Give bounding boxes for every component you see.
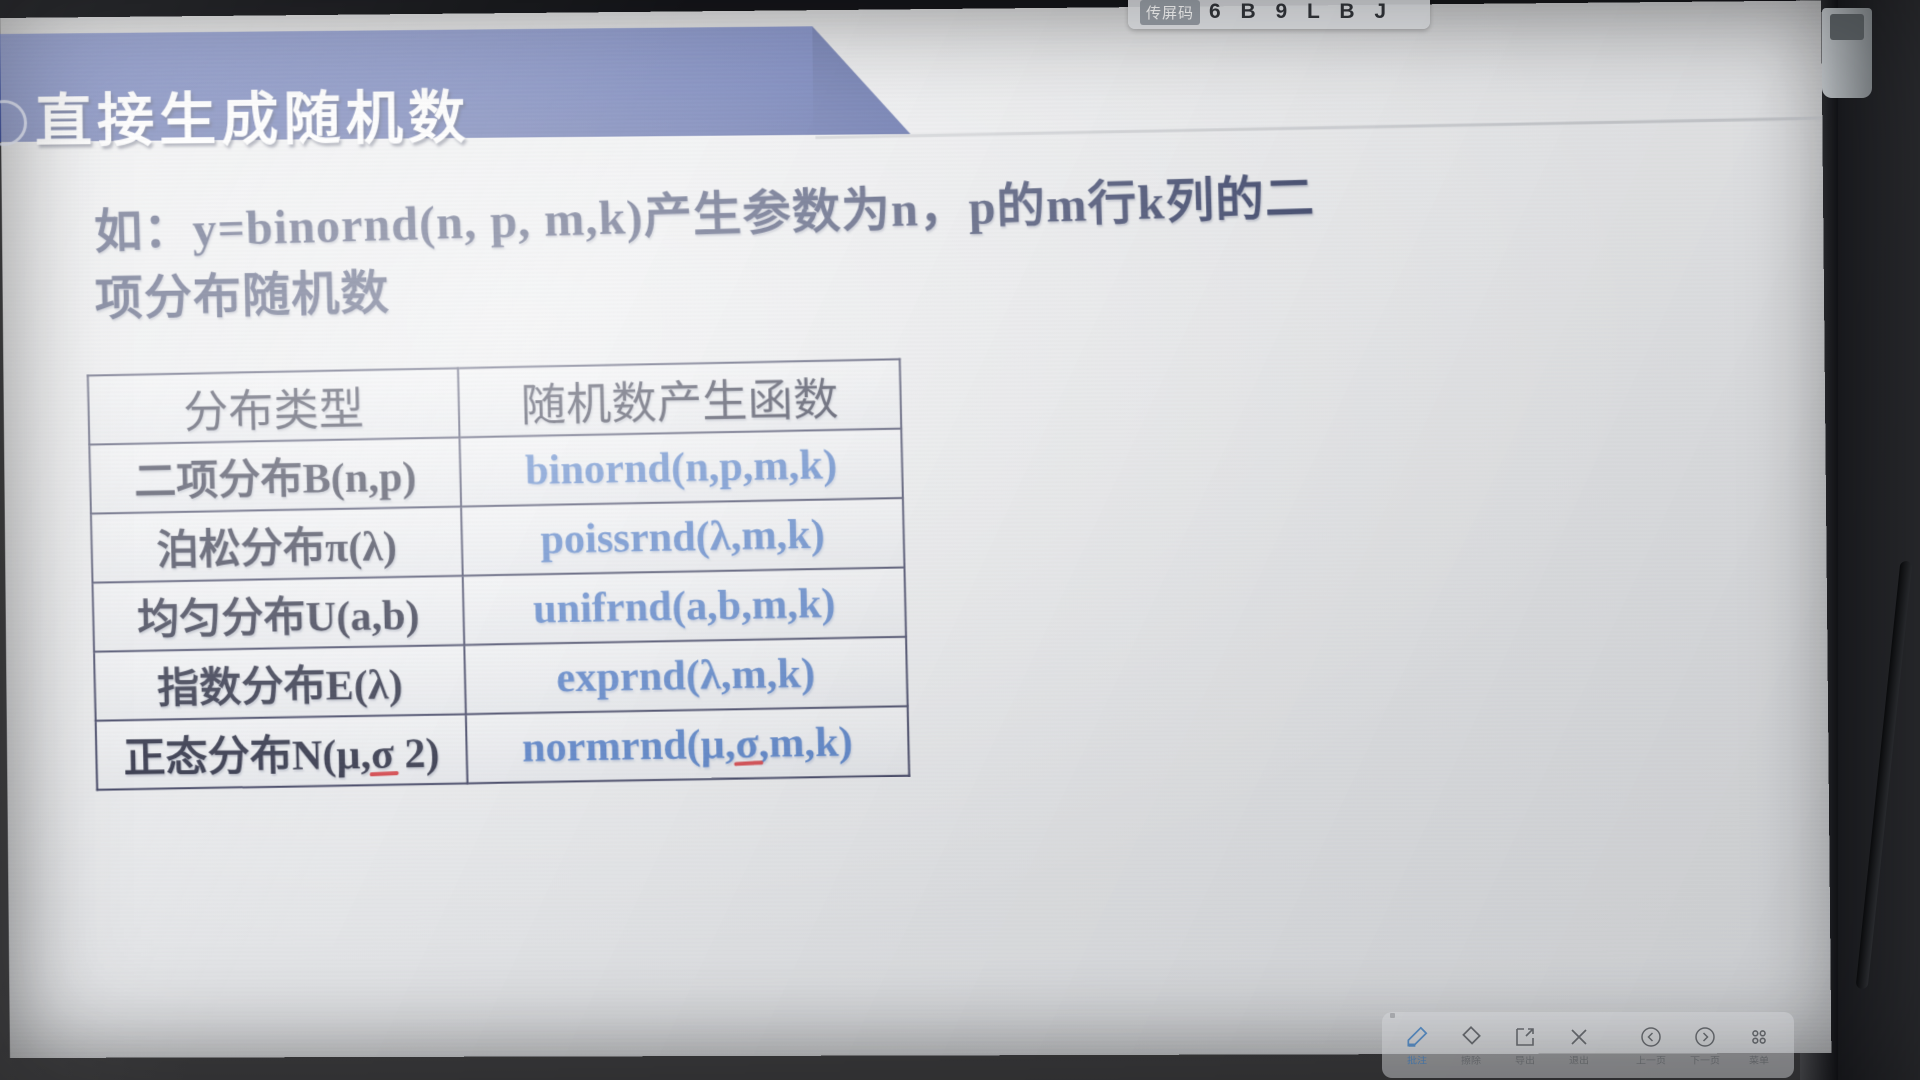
distribution-uniform: 均匀分布U(a,b) xyxy=(137,593,420,644)
header-label-distribution: 分布类型 xyxy=(183,384,365,438)
toolbar-label-menu: 菜单 xyxy=(1749,1053,1769,1067)
function-unifrnd: unifrnd(a,b,m,k) xyxy=(532,580,836,632)
page-title: 直接生成随机数 xyxy=(35,72,471,158)
table-cell-distribution: 二项分布B(n,p) xyxy=(89,437,461,513)
cast-code-badge: 传屏码 6 B 9 L B J xyxy=(1128,0,1430,29)
projected-slide: 直接生成随机数 如：y=binornd(n, p, m,k)产生参数为n，p的m… xyxy=(0,1,1831,1059)
screenshot-stage: 直接生成随机数 如：y=binornd(n, p, m,k)产生参数为n，p的m… xyxy=(0,0,1920,1080)
table-cell-distribution: 指数分布E(λ) xyxy=(94,645,466,721)
normal-prefix: 正态分布N(μ, xyxy=(123,732,371,782)
close-icon xyxy=(1567,1023,1591,1051)
function-binornd: binornd(n,p,m,k) xyxy=(525,441,838,493)
prev-page-icon xyxy=(1639,1023,1663,1051)
toolbar-button-menu[interactable]: 菜单 xyxy=(1732,1023,1786,1067)
cast-code-value: 6 B 9 L B J xyxy=(1209,0,1393,24)
toolbar-label-prev-page: 上一页 xyxy=(1636,1053,1666,1067)
toolbar-label-export: 导出 xyxy=(1515,1053,1535,1067)
table-cell-function: binornd(n,p,m,k) xyxy=(460,429,903,507)
table-cell-function: exprnd(λ,m,k) xyxy=(464,637,907,714)
cup-opening xyxy=(1830,14,1864,40)
normrnd-sigma-annotated: σ xyxy=(735,720,759,767)
toolbar-label-erase: 擦除 xyxy=(1461,1053,1481,1067)
table-cell-distribution: 正态分布N(μ,σ 2) xyxy=(96,714,468,790)
normrnd-suffix: ,m,k) xyxy=(758,719,853,767)
distribution-table-wrapper: 分布类型 随机数产生函数 二项分布B(n,p) binornd(n,p,m,k) xyxy=(87,358,910,791)
eraser-icon xyxy=(1458,1023,1484,1051)
export-icon xyxy=(1513,1023,1537,1051)
function-poissrnd: poissrnd(λ,m,k) xyxy=(540,511,826,563)
distribution-poisson: 泊松分布π(λ) xyxy=(156,524,397,575)
cast-code-label: 传屏码 xyxy=(1140,0,1200,25)
toolbar-button-prev-page[interactable]: 上一页 xyxy=(1624,1023,1678,1067)
header-label-function: 随机数产生函数 xyxy=(520,375,839,432)
annotation-toolbar[interactable]: 批注 擦除 导出 退出 xyxy=(1382,1012,1794,1078)
grid-menu-icon xyxy=(1748,1023,1770,1051)
table-header-cell-distribution: 分布类型 xyxy=(88,368,460,445)
distribution-binomial: 二项分布B(n,p) xyxy=(134,454,417,506)
table-cell-distribution: 泊松分布π(λ) xyxy=(91,507,463,583)
title-divider xyxy=(815,117,1822,139)
table-cell-function: poissrnd(λ,m,k) xyxy=(461,498,904,576)
pencil-icon xyxy=(1404,1023,1430,1051)
toolbar-label-next-page: 下一页 xyxy=(1690,1053,1720,1067)
next-page-icon xyxy=(1693,1023,1717,1051)
normal-suffix: 2) xyxy=(393,731,440,778)
table-cell-function: normrnd(μ,σ,m,k) xyxy=(466,706,909,783)
table-header-cell-function: 随机数产生函数 xyxy=(458,359,901,437)
normrnd-prefix: normrnd(μ, xyxy=(522,721,736,771)
table-row: 正态分布N(μ,σ 2) normrnd(μ,σ,m,k) xyxy=(96,706,910,790)
function-normrnd: normrnd(μ,σ,m,k) xyxy=(522,719,854,771)
body-line-1: 如：y=binornd(n, p, m,k)产生参数为n，p的m行k列的二 xyxy=(93,158,1315,263)
table-cell-distribution: 均匀分布U(a,b) xyxy=(93,576,465,652)
toolbar-button-annotate[interactable]: 批注 xyxy=(1390,1023,1444,1067)
table-cell-function: unifrnd(a,b,m,k) xyxy=(463,567,906,645)
toolbar-button-exit[interactable]: 退出 xyxy=(1552,1023,1606,1067)
distribution-exponential: 指数分布E(λ) xyxy=(157,662,403,713)
toolbar-label-exit: 退出 xyxy=(1569,1053,1589,1067)
toolbar-label-annotate: 批注 xyxy=(1407,1053,1427,1067)
toolbar-button-erase[interactable]: 擦除 xyxy=(1444,1023,1498,1067)
toolbar-button-next-page[interactable]: 下一页 xyxy=(1678,1023,1732,1067)
distribution-normal: 正态分布N(μ,σ 2) xyxy=(123,731,440,783)
distribution-table: 分布类型 随机数产生函数 二项分布B(n,p) binornd(n,p,m,k) xyxy=(87,358,910,791)
normal-sigma-annotated: σ xyxy=(370,731,394,778)
body-line-2: 项分布随机数 xyxy=(94,253,390,330)
toolbar-button-export[interactable]: 导出 xyxy=(1498,1023,1552,1067)
function-exprnd: exprnd(λ,m,k) xyxy=(556,650,816,701)
